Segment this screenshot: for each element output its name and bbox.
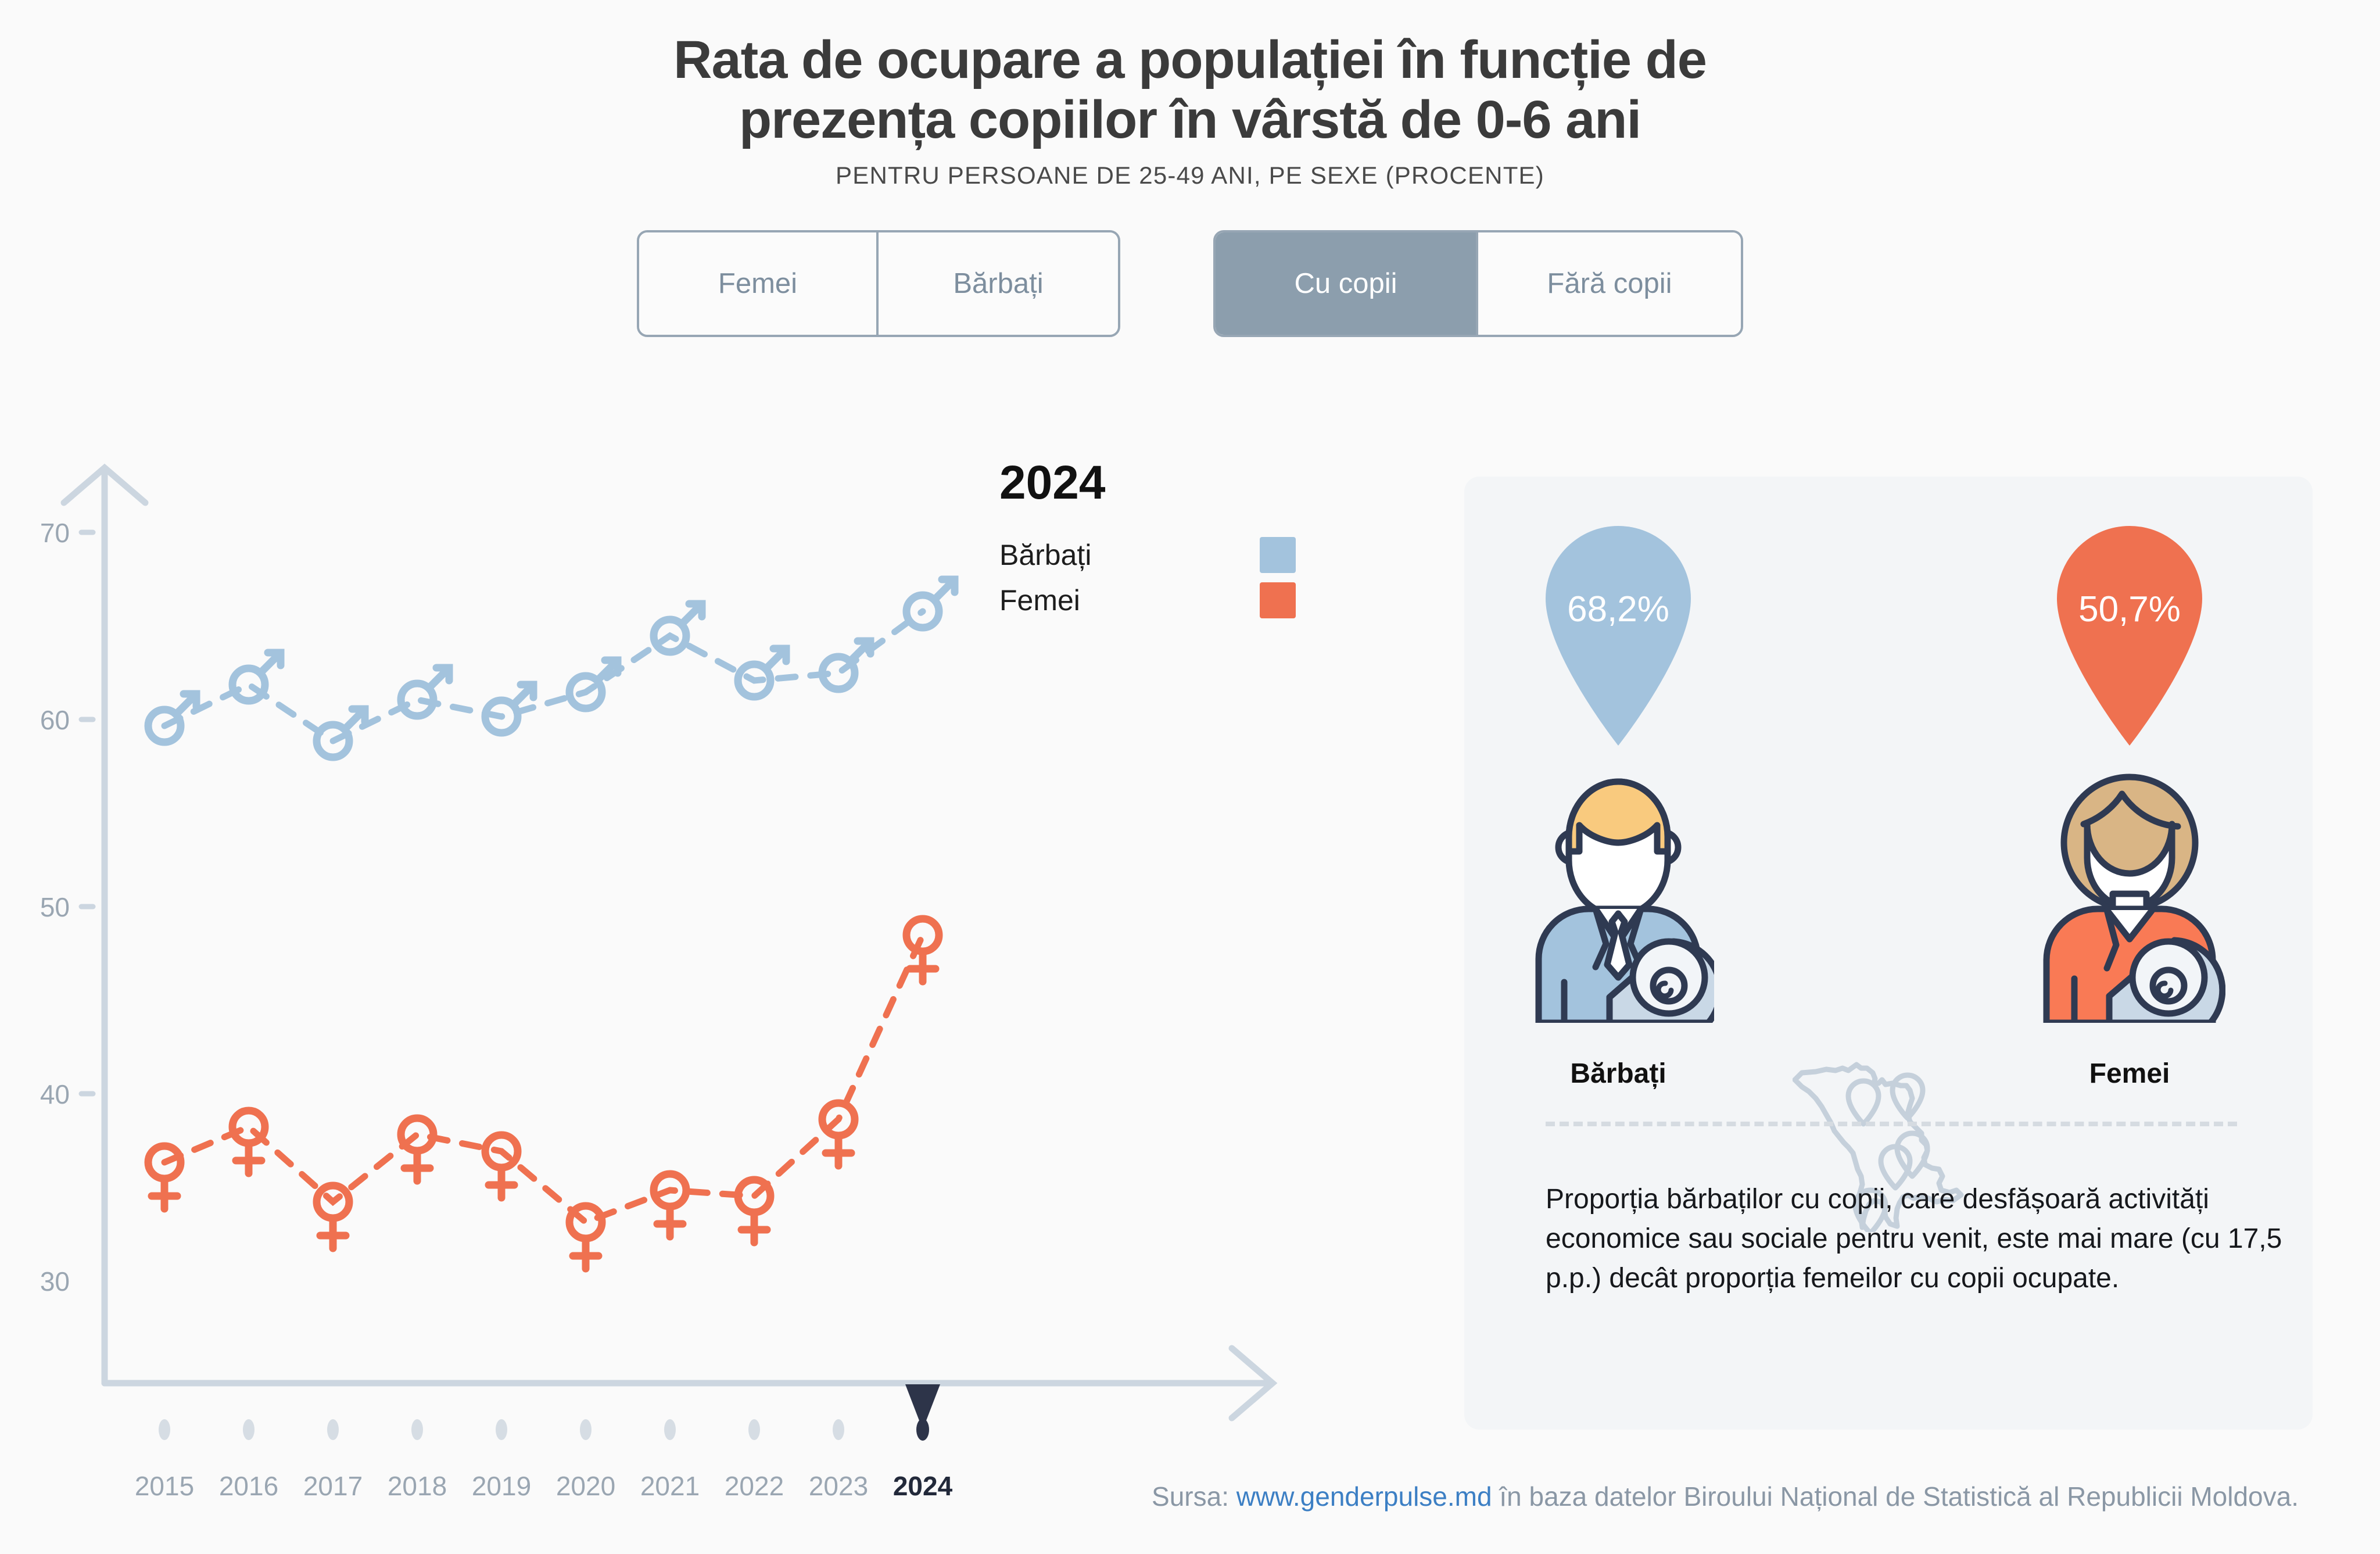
pin-group: 68,2% 50,7% xyxy=(1464,520,2313,770)
summary-card: 68,2% 50,7% xyxy=(1464,477,2313,1430)
toggle-option-cu-copii[interactable]: Cu copii xyxy=(1216,232,1478,335)
y-tick-marks xyxy=(81,532,93,1094)
series-barbati xyxy=(164,611,923,741)
legend-item-barbati[interactable]: Bărbați xyxy=(999,532,1296,578)
filter-toggles: Femei Bărbați Cu copii Fără copii xyxy=(0,230,2380,337)
source-link[interactable]: www.genderpulse.md xyxy=(1236,1481,1492,1512)
y-tick-40: 40 xyxy=(6,1079,70,1110)
x-axis xyxy=(105,1348,1273,1418)
source-footer: Sursa: www.genderpulse.md în baza datelo… xyxy=(0,1481,2380,1512)
line-chart: 70 60 50 40 30 2015 2016 2017 2018 2019 … xyxy=(0,442,1406,1465)
card-note: Proporția bărbaților cu copii, care desf… xyxy=(1546,1180,2301,1298)
sex-toggle-group[interactable]: Femei Bărbați xyxy=(637,230,1120,337)
toggle-option-barbati[interactable]: Bărbați xyxy=(879,232,1118,335)
source-prefix: Sursa: xyxy=(1152,1481,1236,1512)
pin-femei: 50,7% xyxy=(2051,520,2208,747)
pin-value-barbati: 68,2% xyxy=(1540,589,1697,630)
chart-legend-block: 2024 Bărbați Femei xyxy=(999,459,1296,623)
selected-year-heading: 2024 xyxy=(999,459,1296,507)
figure-group xyxy=(1464,750,2313,1040)
title-line-1: Rata de ocupare a populației în funcție … xyxy=(435,30,1945,90)
legend-swatch-barbati xyxy=(1260,537,1296,573)
page-subtitle: PENTRU PERSOANE DE 25-49 ANI, PE SEXE (P… xyxy=(0,162,2380,189)
y-tick-30: 30 xyxy=(6,1266,70,1297)
legend: Bărbați Femei xyxy=(999,532,1296,623)
figure-label-barbati: Bărbați xyxy=(1502,1058,1734,1090)
man-with-baby-illustration xyxy=(1522,750,1714,1023)
main-content: 70 60 50 40 30 2015 2016 2017 2018 2019 … xyxy=(0,442,2380,1430)
legend-swatch-femei xyxy=(1260,582,1296,618)
y-tick-50: 50 xyxy=(6,891,70,923)
legend-item-femei[interactable]: Femei xyxy=(999,578,1296,623)
toggle-option-femei[interactable]: Femei xyxy=(639,232,879,335)
x-axis-dots xyxy=(159,1419,844,1440)
figure-label-femei: Femei xyxy=(2013,1058,2246,1090)
map-pin-icon xyxy=(2051,520,2208,747)
y-tick-70: 70 xyxy=(6,517,70,549)
selected-year-marker xyxy=(905,1384,940,1441)
header: Rata de ocupare a populației în funcție … xyxy=(0,0,2380,189)
title-line-2: prezența copiilor în vârstă de 0-6 ani xyxy=(435,90,1945,150)
card-divider xyxy=(1546,1122,2237,1126)
series-femei-markers xyxy=(148,919,939,1269)
y-axis xyxy=(64,468,145,1383)
pin-barbati: 68,2% xyxy=(1540,520,1697,747)
legend-label-femei: Femei xyxy=(999,583,1260,617)
toggle-option-fara-copii[interactable]: Fără copii xyxy=(1478,232,1741,335)
woman-with-baby-illustration xyxy=(2034,750,2225,1023)
series-barbati-markers xyxy=(148,579,955,757)
map-pin-icon xyxy=(1540,520,1697,747)
y-tick-60: 60 xyxy=(6,704,70,736)
source-suffix: în baza datelor Biroului Național de Sta… xyxy=(1492,1481,2299,1512)
page-title: Rata de ocupare a populației în funcție … xyxy=(435,30,1945,150)
pin-value-femei: 50,7% xyxy=(2051,589,2208,630)
series-femei xyxy=(164,935,923,1222)
children-toggle-group[interactable]: Cu copii Fără copii xyxy=(1213,230,1743,337)
legend-label-barbati: Bărbați xyxy=(999,538,1260,572)
